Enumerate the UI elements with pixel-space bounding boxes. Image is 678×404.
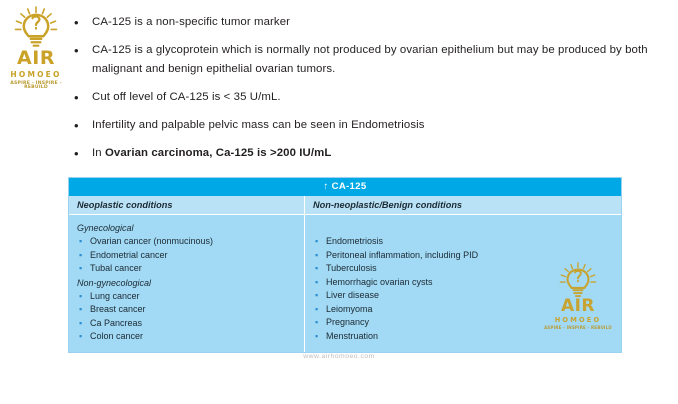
list-item-text-emphasis: Ovarian carcinoma, Ca-125 is >200 IU/mL — [105, 147, 331, 159]
square-bullet-icon: ▪ — [313, 276, 326, 290]
spacer — [313, 221, 621, 235]
bullet-marker: • — [74, 88, 92, 107]
column-header-non-neoplastic: Non-neoplastic/Benign conditions — [305, 196, 621, 214]
list-item-label: Leiomyoma — [326, 303, 373, 317]
list-item-label: Tubal cancer — [90, 262, 142, 276]
list-item-label: Breast cancer — [90, 303, 146, 317]
list-item-label: Hemorrhagic ovarian cysts — [326, 276, 433, 290]
list-item: ▪ Tubal cancer — [77, 262, 304, 276]
list-item: ▪ Colon cancer — [77, 330, 304, 344]
brand-logo-watermark: AIR HOMOEO ASPIRE - INSPIRE - REBUILD — [541, 262, 615, 330]
list-item: • CA-125 is a non-specific tumor marker — [74, 13, 666, 32]
lightbulb-icon — [11, 6, 61, 48]
list-item-text: CA-125 is a glycoprotein which is normal… — [92, 41, 666, 79]
column-header-neoplastic: Neoplastic conditions — [69, 196, 305, 214]
square-bullet-icon: ▪ — [77, 317, 90, 331]
square-bullet-icon: ▪ — [313, 330, 326, 344]
table-header-row: Neoplastic conditions Non-neoplastic/Ben… — [69, 196, 621, 215]
square-bullet-icon: ▪ — [77, 262, 90, 276]
list-item: • Cut off level of CA-125 is < 35 U/mL. — [74, 88, 666, 107]
table-cell-neoplastic: Gynecological ▪ Ovarian cancer (nonmucin… — [69, 215, 305, 352]
list-item: • In Ovarian carcinoma, Ca-125 is >200 I… — [74, 144, 666, 163]
square-bullet-icon: ▪ — [77, 235, 90, 249]
key-points-list: • CA-125 is a non-specific tumor marker … — [74, 13, 666, 172]
list-item-text: In Ovarian carcinoma, Ca-125 is >200 IU/… — [92, 144, 666, 163]
list-item-label: Lung cancer — [90, 290, 140, 304]
table-title: ↑ CA-125 — [69, 178, 621, 196]
brand-tagline: ASPIRE - INSPIRE - REBUILD — [2, 82, 70, 91]
square-bullet-icon: ▪ — [313, 235, 326, 249]
bullet-marker: • — [74, 41, 92, 60]
list-item: ▪ Ca Pancreas — [77, 317, 304, 331]
square-bullet-icon: ▪ — [77, 249, 90, 263]
bullet-marker: • — [74, 144, 92, 163]
brand-subname: HOMOEO — [2, 71, 70, 79]
list-item: ▪ Breast cancer — [77, 303, 304, 317]
list-item-text-plain: In — [92, 147, 105, 159]
list-item: ▪ Endometriosis — [313, 235, 621, 249]
brand-subname: HOMOEO — [541, 317, 615, 324]
list-item-text: Infertility and palpable pelvic mass can… — [92, 116, 666, 135]
square-bullet-icon: ▪ — [77, 290, 90, 304]
square-bullet-icon: ▪ — [313, 249, 326, 263]
square-bullet-icon: ▪ — [77, 303, 90, 317]
list-item-label: Endometrial cancer — [90, 249, 168, 263]
list-item: ▪ Endometrial cancer — [77, 249, 304, 263]
list-item-label: Menstruation — [326, 330, 378, 344]
list-item-label: Colon cancer — [90, 330, 143, 344]
list-item: • CA-125 is a glycoprotein which is norm… — [74, 41, 666, 79]
list-item-text: Cut off level of CA-125 is < 35 U/mL. — [92, 88, 666, 107]
group-label-non-gynecological: Non-gynecological — [77, 276, 304, 290]
list-item: ▪ Peritoneal inflammation, including PID — [313, 249, 621, 263]
list-item: ▪ Lung cancer — [77, 290, 304, 304]
table-body-row: Gynecological ▪ Ovarian cancer (nonmucin… — [69, 215, 621, 352]
list-item-label: Liver disease — [326, 289, 379, 303]
list-item: • Infertility and palpable pelvic mass c… — [74, 116, 666, 135]
bullet-marker: • — [74, 13, 92, 32]
square-bullet-icon: ▪ — [313, 289, 326, 303]
brand-logo: AIR HOMOEO ASPIRE - INSPIRE - REBUILD — [2, 6, 70, 91]
group-label-gynecological: Gynecological — [77, 221, 304, 235]
list-item-label: Peritoneal inflammation, including PID — [326, 249, 478, 263]
brand-tagline: ASPIRE - INSPIRE - REBUILD — [541, 326, 615, 330]
square-bullet-icon: ▪ — [313, 316, 326, 330]
lightbulb-icon — [557, 262, 599, 298]
list-item-label: Ca Pancreas — [90, 317, 142, 331]
list-item-text: CA-125 is a non-specific tumor marker — [92, 13, 666, 32]
list-item: ▪ Ovarian cancer (nonmucinous) — [77, 235, 304, 249]
list-item-label: Ovarian cancer (nonmucinous) — [90, 235, 213, 249]
square-bullet-icon: ▪ — [313, 262, 326, 276]
list-item-label: Tuberculosis — [326, 262, 377, 276]
list-item: ▪ Menstruation — [313, 330, 621, 344]
bullet-marker: • — [74, 116, 92, 135]
brand-wordmark: AIR — [2, 49, 70, 68]
list-item-label: Pregnancy — [326, 316, 369, 330]
list-item-label: Endometriosis — [326, 235, 383, 249]
footer-website-url: www.airhomoeo.com — [0, 353, 678, 360]
square-bullet-icon: ▪ — [77, 330, 90, 344]
ca125-conditions-table: ↑ CA-125 Neoplastic conditions Non-neopl… — [68, 177, 622, 353]
square-bullet-icon: ▪ — [313, 303, 326, 317]
brand-wordmark: AIR — [541, 298, 615, 315]
